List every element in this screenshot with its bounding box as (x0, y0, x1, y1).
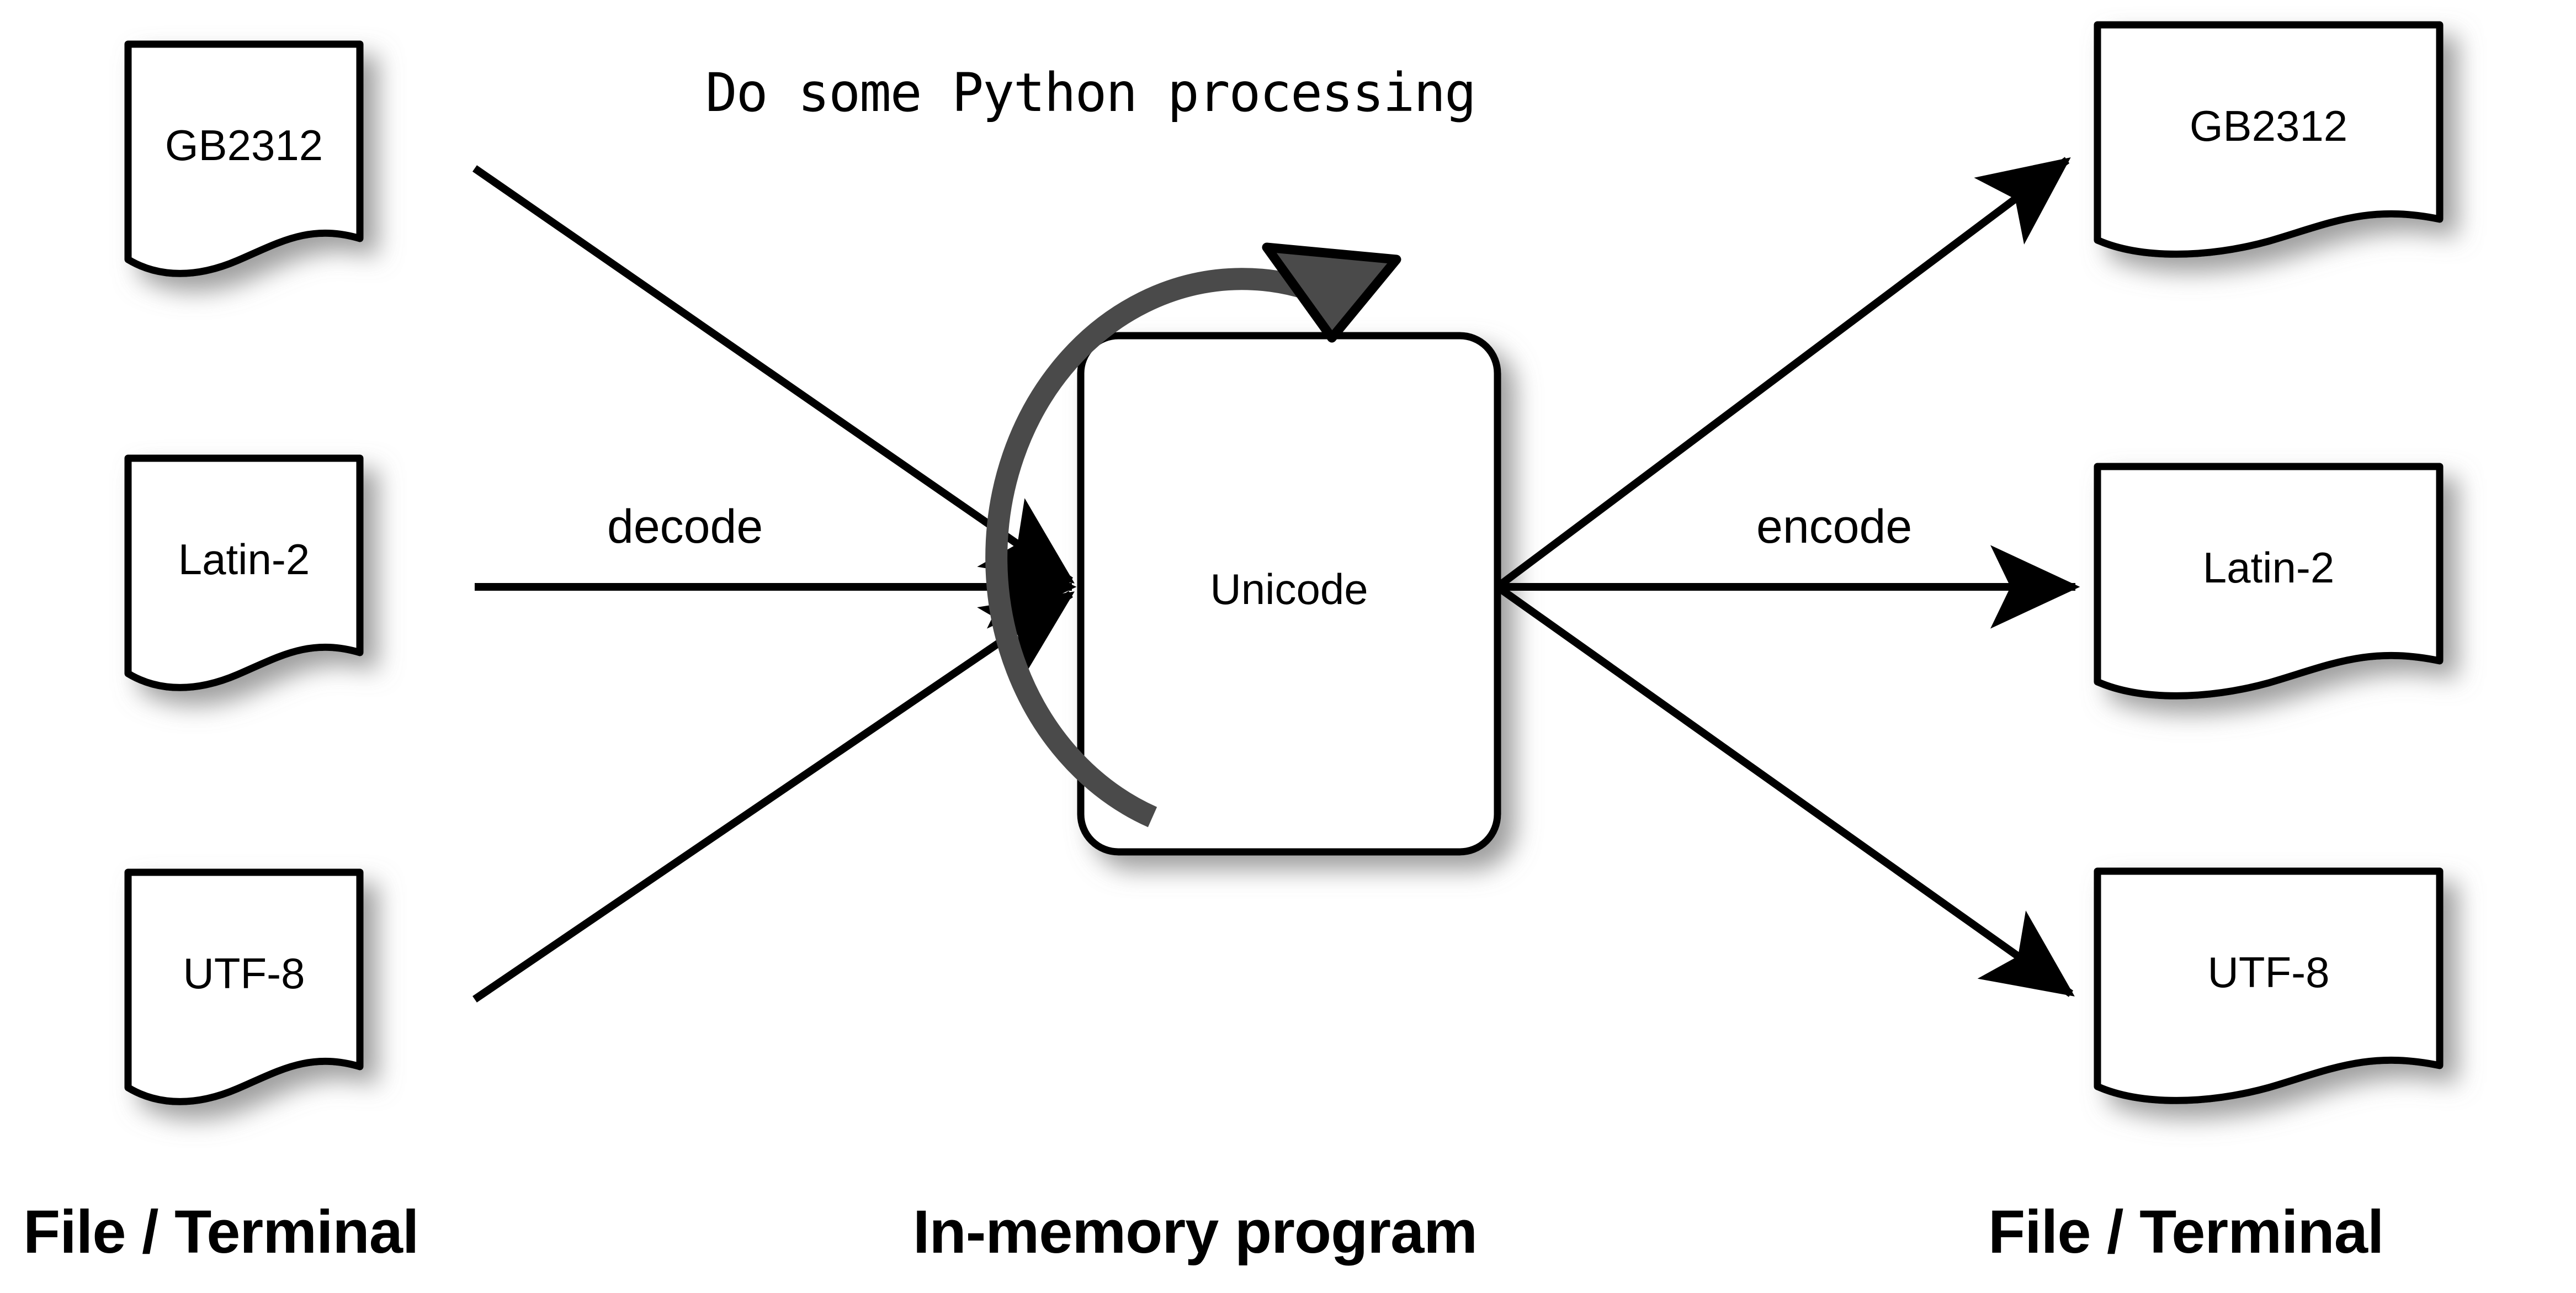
decode-arrow-utf8 (475, 594, 1071, 999)
column-label-right: File / Terminal (1988, 1197, 2384, 1267)
encode-arrows (1497, 160, 2075, 994)
column-label-left: File / Terminal (23, 1197, 419, 1267)
diagram-vector-layer (0, 0, 2576, 1293)
output-document-label-gb2312: GB2312 (2097, 101, 2440, 151)
python-processing-label: Do some Python processing (705, 62, 1475, 124)
output-document-label-utf8: UTF-8 (2097, 947, 2440, 998)
encode-edge-label: encode (1756, 500, 1912, 554)
input-document-label-utf8: UTF-8 (128, 948, 360, 999)
column-label-center: In-memory program (913, 1197, 1477, 1267)
decode-arrow-gb2312 (475, 168, 1071, 581)
diagram-canvas: GB2312 Latin-2 UTF-8 GB2312 Latin-2 UTF-… (0, 0, 2576, 1293)
decode-edge-label: decode (607, 500, 763, 554)
input-document-label-latin2: Latin-2 (128, 534, 360, 585)
output-document-label-latin2: Latin-2 (2097, 543, 2440, 593)
encode-arrow-utf8 (1497, 587, 2071, 994)
decode-arrows (475, 168, 1072, 999)
input-document-label-gb2312: GB2312 (128, 120, 360, 171)
unicode-node-label: Unicode (1081, 564, 1497, 614)
